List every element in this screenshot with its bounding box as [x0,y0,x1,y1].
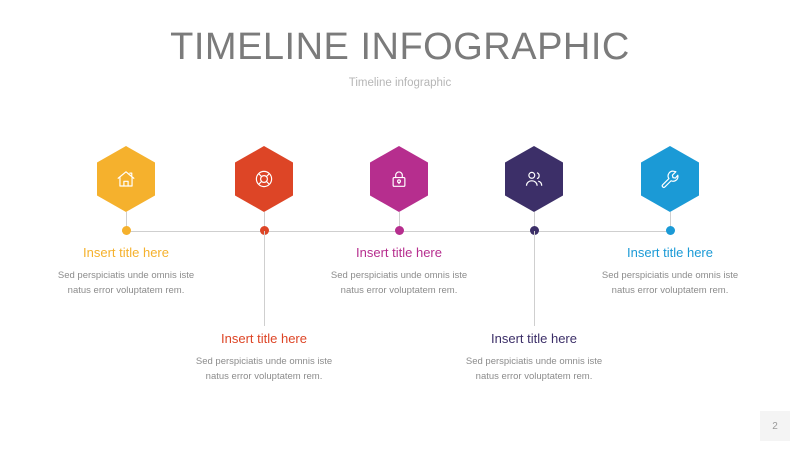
node-caption-5: Insert title hereSed perspiciatis unde o… [590,245,750,298]
timeline-dot-3[interactable] [395,226,404,235]
hexagon-badge-1[interactable] [97,146,155,212]
slide-canvas: TIMELINE INFOGRAPHIC Timeline infographi… [0,0,800,450]
node-caption-3: Insert title hereSed perspiciatis unde o… [319,245,479,298]
node-caption-4: Insert title hereSed perspiciatis unde o… [454,331,614,384]
hexagon-badge-3[interactable] [370,146,428,212]
node-stem-lower-2 [264,231,265,326]
page-title: TIMELINE INFOGRAPHIC [0,26,800,69]
node-caption-1: Insert title hereSed perspiciatis unde o… [46,245,206,298]
node-body-2: Sed perspiciatis unde omnis iste natus e… [184,355,344,384]
users-icon [523,168,545,190]
node-body-4: Sed perspiciatis unde omnis iste natus e… [454,355,614,384]
node-title-1: Insert title here [46,245,206,260]
node-stem-lower-4 [534,231,535,326]
page-subtitle: Timeline infographic [0,77,800,89]
lifebuoy-icon [253,168,275,190]
node-caption-2: Insert title hereSed perspiciatis unde o… [184,331,344,384]
page-number-label: 2 [772,421,778,432]
timeline-dot-1[interactable] [122,226,131,235]
node-body-3: Sed perspiciatis unde omnis iste natus e… [319,269,479,298]
node-title-5: Insert title here [590,245,750,260]
page-number-badge: 2 [760,411,790,441]
node-body-1: Sed perspiciatis unde omnis iste natus e… [46,269,206,298]
hexagon-badge-4[interactable] [505,146,563,212]
node-title-2: Insert title here [184,331,344,346]
node-body-5: Sed perspiciatis unde omnis iste natus e… [590,269,750,298]
hexagon-badge-5[interactable] [641,146,699,212]
timeline-dot-5[interactable] [666,226,675,235]
home-icon [115,168,137,190]
hexagon-badge-2[interactable] [235,146,293,212]
wrench-icon [659,168,681,190]
lock-icon [388,168,410,190]
node-title-3: Insert title here [319,245,479,260]
node-title-4: Insert title here [454,331,614,346]
